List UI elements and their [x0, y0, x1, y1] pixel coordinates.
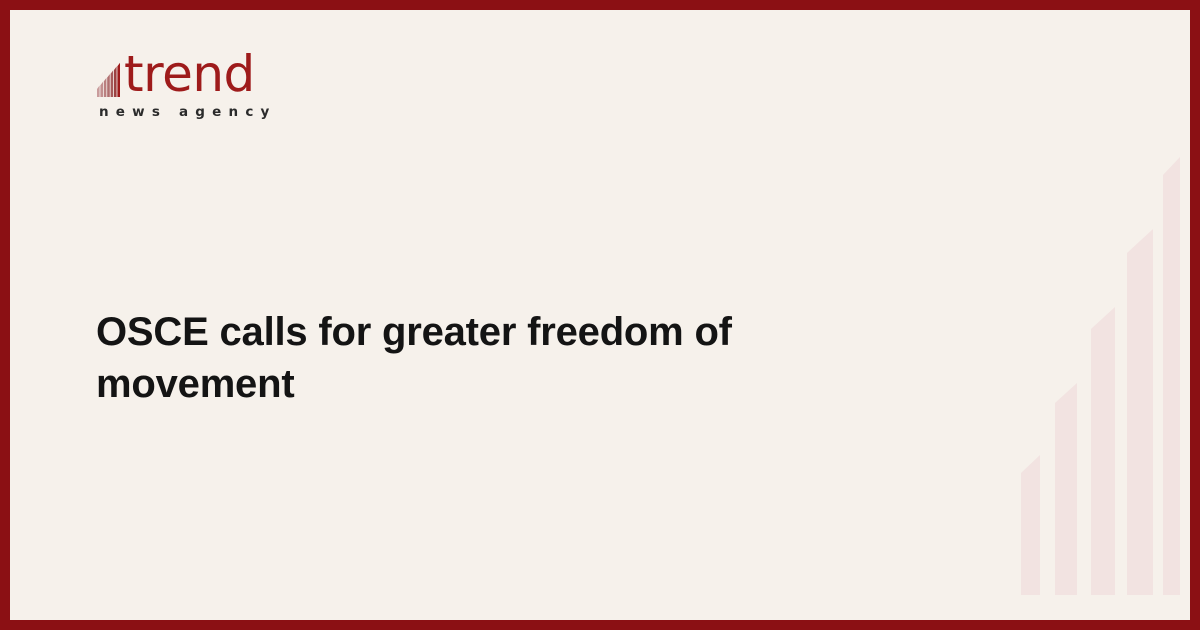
- brand-logo[interactable]: trend news agency: [96, 45, 356, 120]
- logo-row: trend: [96, 45, 356, 97]
- card-canvas: trend news agency OSCE calls for greater…: [10, 10, 1190, 620]
- decor-bar-5: [1163, 157, 1180, 595]
- decor-bar-2: [1055, 383, 1077, 595]
- logo-wordmark: trend: [124, 51, 255, 97]
- logo-tagline: news agency: [99, 104, 356, 120]
- decor-bar-4: [1127, 229, 1153, 595]
- decor-bar-group: [1021, 157, 1180, 595]
- ascending-bars-graphic: [1015, 155, 1180, 595]
- decor-bar-3: [1091, 307, 1115, 595]
- headline: OSCE calls for greater freedom of moveme…: [96, 306, 926, 410]
- social-share-card: trend news agency OSCE calls for greater…: [0, 0, 1200, 630]
- decor-bar-1: [1021, 455, 1040, 595]
- ascending-bars-mark-icon: [96, 51, 122, 97]
